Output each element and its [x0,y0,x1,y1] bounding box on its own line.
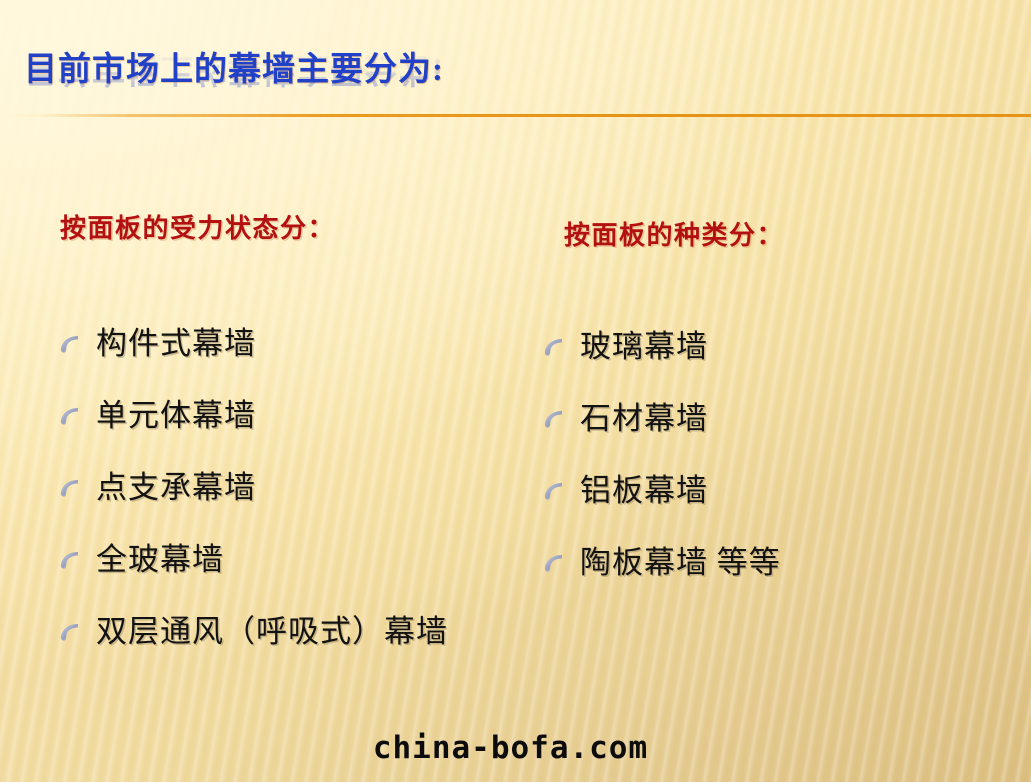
crescent-bullet-icon [540,550,566,576]
list-item[interactable]: 玻璃幕墙 [540,310,1010,382]
bullet-list-right: 玻璃幕墙 石材幕墙 铝板幕墙 [540,310,1010,598]
list-item[interactable]: 陶板幕墙 等等 [540,526,1010,598]
list-item-label: 双层通风（呼吸式）幕墙 [96,616,448,647]
list-item-label: 玻璃幕墙 [580,331,708,362]
list-item-label: 全玻幕墙 [96,544,224,575]
list-item[interactable]: 构件式幕墙 [56,307,576,379]
list-item[interactable]: 铝板幕墙 [540,454,1010,526]
slide-footer: china-bofa.com [0,730,1031,766]
list-item-label: 陶板幕墙 等等 [580,547,781,578]
bullet-list-left: 构件式幕墙 单元体幕墙 点支承幕墙 [56,307,576,667]
crescent-bullet-icon [56,619,82,645]
list-item-label: 点支承幕墙 [96,472,256,503]
crescent-bullet-icon [540,478,566,504]
crescent-bullet-icon [56,403,82,429]
presentation-slide: 目前市场上的幕墙主要分为: 目前市场上的幕墙主要分为: 按面板的受力状态分： [0,0,1031,782]
crescent-bullet-icon [56,547,82,573]
crescent-bullet-icon [56,475,82,501]
list-item-label: 构件式幕墙 [96,328,256,359]
list-item-label: 单元体幕墙 [96,400,256,431]
list-item[interactable]: 单元体幕墙 [56,379,576,451]
list-item[interactable]: 点支承幕墙 [56,451,576,523]
footer-website-text: china-bofa.com [373,730,648,766]
content-column-left: 按面板的受力状态分： 构件式幕墙 [56,208,576,667]
list-item[interactable]: 全玻幕墙 [56,523,576,595]
column-heading-right: 按面板的种类分： [564,215,1010,252]
list-item-label: 石材幕墙 [580,403,708,434]
crescent-bullet-icon [540,334,566,360]
list-item[interactable]: 双层通风（呼吸式）幕墙 [56,595,576,667]
list-item-label: 铝板幕墙 [580,475,708,506]
slide-title-block: 目前市场上的幕墙主要分为: 目前市场上的幕墙主要分为: [24,50,924,112]
list-item[interactable]: 石材幕墙 [540,382,1010,454]
column-heading-left: 按面板的受力状态分： [60,208,576,245]
crescent-bullet-icon [540,406,566,432]
crescent-bullet-icon [56,331,82,357]
slide-title: 目前市场上的幕墙主要分为: [24,50,924,90]
content-column-right: 按面板的种类分： 玻璃幕墙 石材幕墙 [540,215,1010,598]
title-divider-rule [0,114,1031,117]
